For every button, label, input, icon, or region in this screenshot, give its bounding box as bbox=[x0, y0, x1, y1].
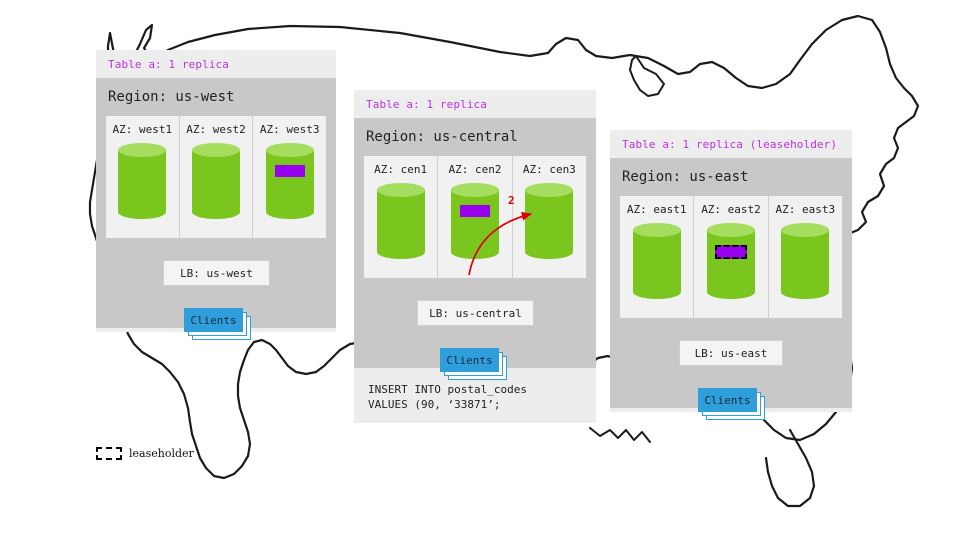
clients-label-us-west: Clients bbox=[190, 314, 236, 327]
cylinder-top bbox=[633, 223, 681, 237]
clients-button-us-west[interactable]: Clients bbox=[184, 308, 251, 340]
cylinder-body bbox=[266, 150, 314, 212]
node-cylinder-cen1[interactable] bbox=[377, 183, 425, 259]
az-cell-west3[interactable]: AZ: west3 bbox=[253, 116, 326, 238]
az-cell-west2[interactable]: AZ: west2 bbox=[180, 116, 254, 238]
cylinder-top bbox=[781, 223, 829, 237]
cylinder-shape bbox=[451, 183, 499, 259]
node-cylinder-west2[interactable] bbox=[192, 143, 240, 219]
az-cell-cen1[interactable]: AZ: cen1 bbox=[364, 156, 438, 278]
arrow-step-number-2: 2 bbox=[508, 194, 515, 207]
replica-badge-cen2[interactable] bbox=[460, 205, 490, 217]
region-label-us-central: Region: us-central bbox=[354, 118, 596, 156]
cylinder-shape bbox=[525, 183, 573, 259]
cylinder-shape bbox=[633, 223, 681, 299]
replica-badge-west3[interactable] bbox=[275, 165, 305, 177]
leaseholder-swatch-icon bbox=[96, 447, 122, 460]
cylinder-top bbox=[525, 183, 573, 197]
az-cell-east1[interactable]: AZ: east1 bbox=[620, 196, 694, 318]
az-cell-cen2[interactable]: AZ: cen2 bbox=[438, 156, 512, 278]
legend-label: leaseholder bbox=[129, 447, 194, 460]
clients-button-face[interactable]: Clients bbox=[440, 348, 499, 372]
az-strip-us-central: AZ: cen1 AZ: cen2 bbox=[364, 156, 586, 278]
lb-box-us-central[interactable]: LB: us-central bbox=[417, 300, 534, 326]
az-label-east3: AZ: east3 bbox=[769, 203, 842, 216]
clients-button-face[interactable]: Clients bbox=[698, 388, 757, 412]
cylinder-top bbox=[192, 143, 240, 157]
region-panel-us-west: Table a: 1 replica Region: us-west AZ: w… bbox=[96, 50, 336, 332]
cylinder-body bbox=[781, 230, 829, 292]
lb-box-us-east[interactable]: LB: us-east bbox=[679, 340, 783, 366]
lb-label-us-east: LB: us-east bbox=[695, 347, 768, 360]
cylinder-top bbox=[451, 183, 499, 197]
cylinder-body bbox=[118, 150, 166, 212]
az-label-east2: AZ: east2 bbox=[694, 203, 767, 216]
az-label-east1: AZ: east1 bbox=[620, 203, 693, 216]
az-strip-us-west: AZ: west1 AZ: west2 bbox=[106, 116, 326, 238]
region-box-us-central: Region: us-central AZ: cen1 AZ: cen2 bbox=[354, 118, 596, 368]
az-cell-west1[interactable]: AZ: west1 bbox=[106, 116, 180, 238]
az-label-west3: AZ: west3 bbox=[253, 123, 326, 136]
az-cell-east3[interactable]: AZ: east3 bbox=[769, 196, 842, 318]
clients-label-us-central: Clients bbox=[446, 354, 492, 367]
az-label-cen2: AZ: cen2 bbox=[438, 163, 511, 176]
replica-badge-east2-leaseholder[interactable] bbox=[715, 245, 747, 259]
region-label-us-west: Region: us-west bbox=[96, 78, 336, 116]
clients-button-us-east[interactable]: Clients bbox=[698, 388, 765, 420]
node-cylinder-east2[interactable] bbox=[707, 223, 755, 299]
lb-label-us-central: LB: us-central bbox=[429, 307, 522, 320]
clients-button-us-central[interactable]: Clients bbox=[440, 348, 507, 380]
cylinder-body bbox=[192, 150, 240, 212]
cylinder-shape bbox=[377, 183, 425, 259]
region-panel-us-east: Table a: 1 replica (leaseholder) Region:… bbox=[610, 130, 852, 412]
cylinder-top bbox=[266, 143, 314, 157]
node-cylinder-cen3[interactable] bbox=[525, 183, 573, 259]
cylinder-shape bbox=[118, 143, 166, 219]
az-cell-cen3[interactable]: AZ: cen3 bbox=[513, 156, 586, 278]
az-label-west1: AZ: west1 bbox=[106, 123, 179, 136]
az-strip-us-east: AZ: east1 AZ: east2 bbox=[620, 196, 842, 318]
cylinder-body bbox=[451, 190, 499, 252]
cylinder-top bbox=[118, 143, 166, 157]
az-label-cen3: AZ: cen3 bbox=[513, 163, 586, 176]
great-lakes-detail bbox=[630, 56, 664, 96]
node-cylinder-east3[interactable] bbox=[781, 223, 829, 299]
panel-title-us-east: Table a: 1 replica (leaseholder) bbox=[610, 130, 852, 158]
panel-title-us-central: Table a: 1 replica bbox=[354, 90, 596, 118]
gulf-coast-detail bbox=[590, 428, 650, 442]
region-panel-us-central: Table a: 1 replica Region: us-central AZ… bbox=[354, 90, 596, 423]
cylinder-body bbox=[377, 190, 425, 252]
cylinder-body bbox=[633, 230, 681, 292]
clients-button-face[interactable]: Clients bbox=[184, 308, 243, 332]
clients-label-us-east: Clients bbox=[704, 394, 750, 407]
region-box-us-east: Region: us-east AZ: east1 AZ: east2 bbox=[610, 158, 852, 408]
panel-title-us-west: Table a: 1 replica bbox=[96, 50, 336, 78]
cylinder-top bbox=[377, 183, 425, 197]
cylinder-shape bbox=[192, 143, 240, 219]
lb-box-us-west[interactable]: LB: us-west bbox=[163, 260, 270, 286]
az-label-cen1: AZ: cen1 bbox=[364, 163, 437, 176]
cylinder-shape bbox=[266, 143, 314, 219]
cylinder-top bbox=[707, 223, 755, 237]
cylinder-body bbox=[525, 190, 573, 252]
az-cell-east2[interactable]: AZ: east2 bbox=[694, 196, 768, 318]
florida-detail bbox=[766, 430, 814, 506]
node-cylinder-east1[interactable] bbox=[633, 223, 681, 299]
node-cylinder-west1[interactable] bbox=[118, 143, 166, 219]
lb-label-us-west: LB: us-west bbox=[180, 267, 253, 280]
region-label-us-east: Region: us-east bbox=[610, 158, 852, 196]
cylinder-body bbox=[707, 230, 755, 292]
cylinder-shape bbox=[707, 223, 755, 299]
legend: leaseholder bbox=[96, 447, 194, 460]
cylinder-shape bbox=[781, 223, 829, 299]
region-box-us-west: Region: us-west AZ: west1 AZ: west2 bbox=[96, 78, 336, 328]
node-cylinder-cen2[interactable] bbox=[451, 183, 499, 259]
az-label-west2: AZ: west2 bbox=[180, 123, 253, 136]
node-cylinder-west3[interactable] bbox=[266, 143, 314, 219]
